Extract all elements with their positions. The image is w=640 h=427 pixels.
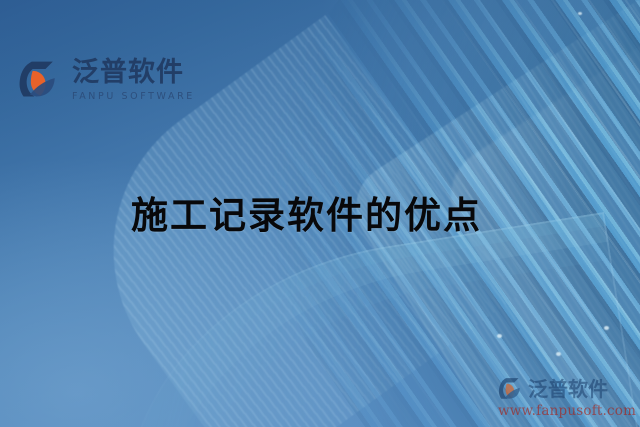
watermark-logo-row: 泛普软件	[498, 376, 634, 402]
brand-text-block: 泛普软件 FANPU SOFTWARE	[72, 58, 195, 102]
brand-name-cn: 泛普软件	[72, 59, 195, 87]
promo-banner: 泛普软件 FANPU SOFTWARE 施工记录软件的优点 泛普软件 www.f…	[0, 0, 640, 427]
watermark-url: www.fanpusoft.com	[498, 403, 634, 419]
page-title: 施工记录软件的优点	[131, 197, 482, 236]
fanpu-logo-icon	[498, 376, 524, 402]
brand-logo: 泛普软件 FANPU SOFTWARE	[18, 58, 195, 102]
watermark-brand-name: 泛普软件	[528, 379, 608, 399]
brand-name-en: FANPU SOFTWARE	[72, 91, 195, 102]
watermark: 泛普软件 www.fanpusoft.com	[498, 376, 634, 419]
fanpu-logo-icon	[18, 58, 62, 102]
